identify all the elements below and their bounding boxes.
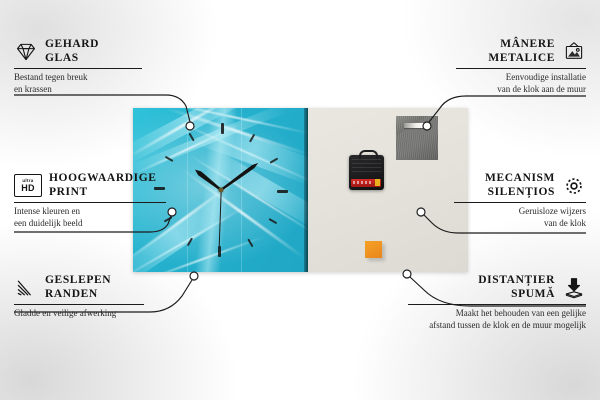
feature-rule bbox=[14, 202, 166, 203]
feature-rule bbox=[408, 304, 586, 305]
feature-title: MECANISM SILENȚIOS bbox=[485, 172, 555, 199]
clock-minute-hand bbox=[219, 161, 259, 191]
feature-title: HOOGWAARDIGE PRINT bbox=[49, 172, 157, 199]
hanger-slot bbox=[404, 123, 426, 128]
feature-title: DISTANȚIER SPUMĂ bbox=[478, 274, 555, 301]
feature-manere-metalice: MÂNERE METALICE Eenvoudige installatie v… bbox=[456, 38, 586, 95]
feature-geslepen-randen: GESLEPEN RANDEN Gladde en veilige afwerk… bbox=[14, 274, 144, 320]
feature-description: Bestand tegen breuk en krassen bbox=[14, 72, 142, 95]
feature-description: Maakt het behouden van een gelijke afsta… bbox=[408, 308, 586, 331]
ultra-hd-icon: ultra HD bbox=[14, 174, 42, 197]
feature-title: GEHARD GLAS bbox=[45, 38, 99, 65]
feature-hoogwaardige-print: ultra HD HOOGWAARDIGE PRINT Intense kleu… bbox=[14, 172, 166, 229]
feature-description: Gladde en veilige afwerking bbox=[14, 308, 144, 320]
feature-description: Eenvoudige installatie van de klok aan d… bbox=[456, 72, 586, 95]
feature-rule bbox=[456, 68, 586, 69]
feature-description: Geruisloze wijzers van de klok bbox=[454, 206, 586, 229]
feature-mecanism-silentios: MECANISM SILENȚIOS Geruisloze wijzers va… bbox=[454, 172, 586, 229]
infographic-canvas: GEHARD GLAS Bestand tegen breuk en krass… bbox=[0, 0, 600, 400]
orange-foam-spacer bbox=[365, 241, 382, 258]
product-image bbox=[133, 108, 468, 272]
down-arrow-pad-icon bbox=[562, 277, 586, 299]
clock-back-panel bbox=[308, 108, 468, 272]
feature-gehard-glas: GEHARD GLAS Bestand tegen breuk en krass… bbox=[14, 38, 142, 95]
diamond-icon bbox=[14, 41, 38, 63]
feature-description: Intense kleuren en een duidelijk beeld bbox=[14, 206, 166, 229]
clock-center-hub bbox=[218, 188, 223, 193]
ultra-hd-icon-main-label: HD bbox=[21, 184, 35, 193]
quartz-mechanism bbox=[349, 155, 384, 190]
feature-title: MÂNERE METALICE bbox=[488, 38, 555, 65]
battery-plus-terminal bbox=[375, 179, 380, 186]
feature-distantier-spuma: DISTANȚIER SPUMĂ Maakt het behouden van … bbox=[408, 274, 586, 331]
metal-hanger-plate bbox=[396, 116, 438, 160]
battery bbox=[351, 179, 381, 187]
feature-rule bbox=[14, 68, 142, 69]
picture-frame-hanger-icon bbox=[562, 41, 586, 63]
feature-title: GESLEPEN RANDEN bbox=[45, 274, 111, 301]
beveled-edges-icon bbox=[14, 277, 38, 299]
feature-rule bbox=[14, 304, 144, 305]
feature-rule bbox=[454, 202, 586, 203]
gear-icon bbox=[562, 175, 586, 197]
